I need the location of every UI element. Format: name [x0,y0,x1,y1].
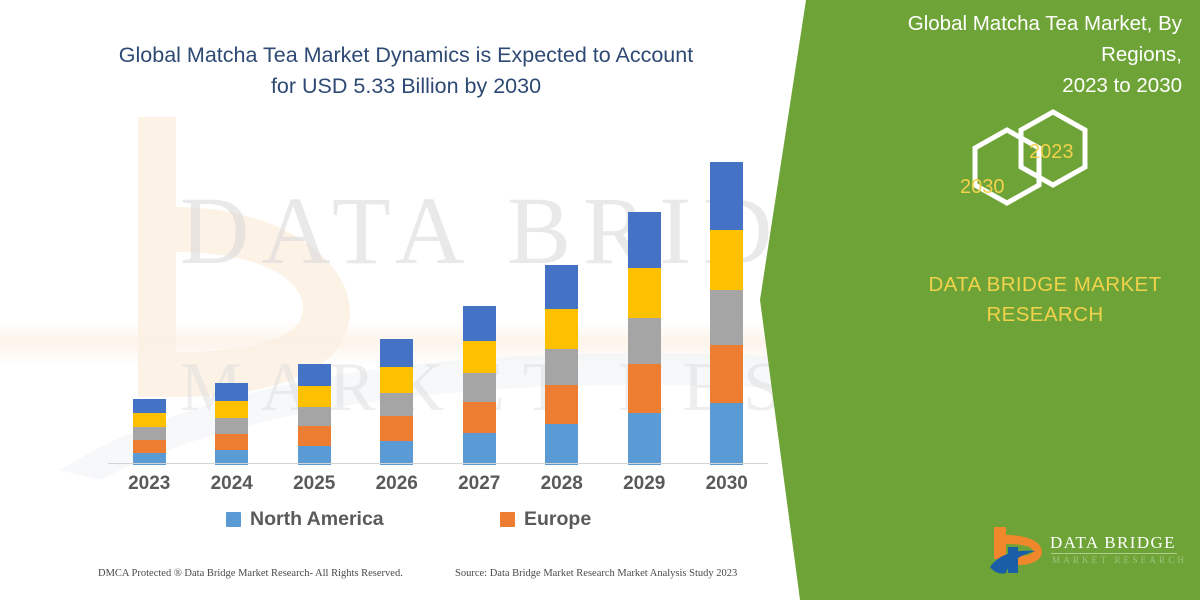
bar-segment-2024-europe [215,434,248,450]
legend-swatch-icon [226,512,241,527]
bar-2026 [380,339,413,465]
x-axis-tick-labels: 20232024202520262027202820292030 [108,473,768,503]
bar-segment-2029-asia-pacific [628,318,661,364]
bar-segment-2023-europe [133,440,166,453]
logo-divider [1051,553,1177,554]
bar-segment-2027-north-america [463,433,496,465]
bar-segment-2030-europe [710,345,743,403]
bar-2024 [215,383,248,465]
bar-segment-2028-south-america [545,309,578,349]
panel-title: Global Matcha Tea Market, By Regions, 20… [826,8,1182,101]
bar-segment-2029-middle-east [628,212,661,268]
hex-2023-label: 2023 [1029,141,1074,164]
x-tick-2027: 2027 [439,473,519,495]
bar-segment-2028-middle-east [545,265,578,309]
bar-segment-2026-north-america [380,441,413,465]
panel-title-line-2: 2023 to 2030 [1062,74,1182,97]
bar-segment-2025-asia-pacific [298,407,331,426]
bar-segment-2026-asia-pacific [380,393,413,416]
x-tick-2025: 2025 [274,473,354,495]
bar-segment-2030-asia-pacific [710,290,743,345]
x-tick-2029: 2029 [604,473,684,495]
chart-title: Global Matcha Tea Market Dynamics is Exp… [96,40,716,102]
panel-brand-line-1: DATA BRIDGE MARKET [928,273,1161,296]
bar-segment-2027-asia-pacific [463,373,496,402]
bar-2027 [463,306,496,465]
logo-wordmark: DATA BRIDGE [1050,533,1176,553]
chart-plot-area [108,140,768,465]
x-tick-2023: 2023 [109,473,189,495]
bar-segment-2030-middle-east [710,162,743,230]
legend-item-north-america[interactable]: North America [226,508,384,531]
infographic-root: DATA BRIDGE MARKET RESEARCH Global Match… [0,0,1200,600]
bar-segment-2030-north-america [710,403,743,465]
x-tick-2030: 2030 [687,473,767,495]
bar-segment-2026-south-america [380,367,413,393]
bar-segment-2025-south-america [298,386,331,407]
data-bridge-logo-icon [988,525,1046,577]
bar-segment-2028-europe [545,385,578,424]
bar-segment-2028-north-america [545,424,578,465]
bar-segment-2024-south-america [215,401,248,418]
bar-2029 [628,212,661,465]
bar-2025 [298,364,331,465]
hexagon-outlines-icon [925,108,1110,223]
x-tick-2024: 2024 [192,473,272,495]
legend-swatch-icon [500,512,515,527]
bar-segment-2024-middle-east [215,383,248,401]
bar-segment-2027-middle-east [463,306,496,341]
bar-segment-2028-asia-pacific [545,349,578,385]
legend-item-europe[interactable]: Europe [500,508,591,531]
year-hexagons: 2023 2030 [925,108,1110,223]
chart-legend: North AmericaEurope [108,508,768,542]
panel-title-line-1: Global Matcha Tea Market, By Regions, [908,12,1182,66]
bar-segment-2023-south-america [133,413,166,427]
data-bridge-logo: DATA BRIDGE MARKET RESEARCH [988,525,1188,581]
chart-title-line-2: for USD 5.33 Billion by 2030 [271,74,541,98]
footer-copyright: DMCA Protected ® Data Bridge Market Rese… [98,568,403,579]
bar-segment-2024-asia-pacific [215,418,248,434]
bar-segment-2026-middle-east [380,339,413,367]
x-tick-2028: 2028 [522,473,602,495]
bar-segment-2026-europe [380,416,413,441]
bar-segment-2025-europe [298,426,331,446]
bar-segment-2027-south-america [463,341,496,373]
bar-segment-2023-middle-east [133,399,166,413]
panel-brand-name: DATA BRIDGE MARKET RESEARCH [900,270,1190,330]
x-axis-line [108,463,768,464]
legend-label: Europe [524,508,591,531]
bar-segment-2027-europe [463,402,496,433]
bar-segment-2030-south-america [710,230,743,290]
bar-2028 [545,265,578,465]
bar-segment-2029-north-america [628,413,661,465]
chart-title-line-1: Global Matcha Tea Market Dynamics is Exp… [119,43,693,67]
hex-2030-label: 2030 [960,176,1005,199]
panel-brand-line-2: RESEARCH [986,303,1103,326]
bar-2030 [710,162,743,465]
bar-2023 [133,399,166,465]
bar-segment-2029-europe [628,364,661,413]
bar-segment-2025-middle-east [298,364,331,386]
logo-subwordmark: MARKET RESEARCH [1052,555,1187,565]
bar-segment-2029-south-america [628,268,661,318]
bar-segment-2023-asia-pacific [133,427,166,440]
x-tick-2026: 2026 [357,473,437,495]
footer-source: Source: Data Bridge Market Research Mark… [455,568,737,579]
legend-label: North America [250,508,384,531]
